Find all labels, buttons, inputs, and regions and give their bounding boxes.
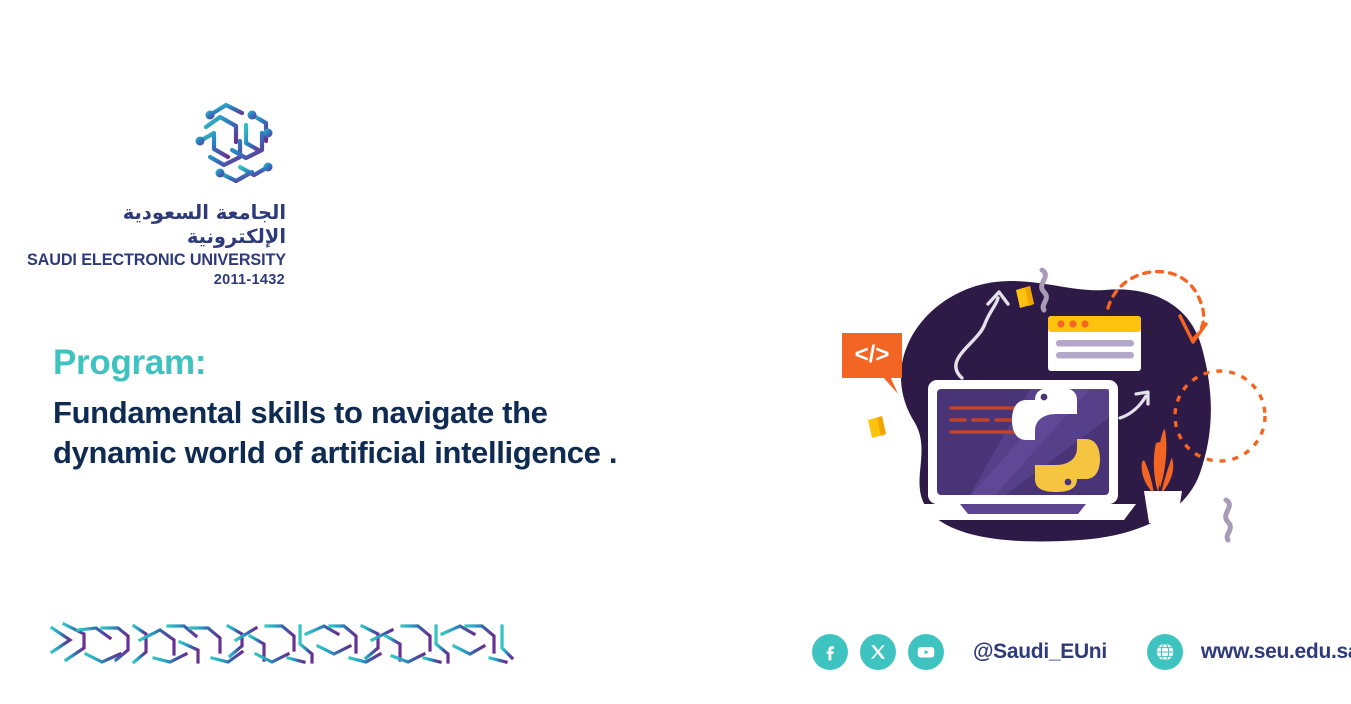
hero-illustration: </> [820, 248, 1290, 568]
logo-year: 2011-1432 [18, 272, 288, 288]
social-links-group: @Saudi_EUni [812, 634, 1107, 670]
code-bubble-label: </> [855, 341, 890, 368]
social-handle[interactable]: @Saudi_EUni [973, 640, 1107, 664]
x-twitter-icon[interactable] [860, 634, 896, 670]
logo-name-arabic: الجامعة السعودية الإلكترونية [18, 201, 288, 250]
circuit-hexagon-logo-icon [180, 95, 290, 195]
poster-canvas: الجامعة السعودية الإلكترونية SAUDI ELECT… [0, 0, 1351, 704]
squiggle-bottom-icon [1226, 500, 1231, 540]
ai-python-illustration-icon: </> [820, 248, 1290, 568]
facebook-icon[interactable] [812, 634, 848, 670]
website-group: www.seu.edu.sa [1147, 634, 1351, 670]
program-label: Program: [53, 344, 633, 383]
university-logo: الجامعة السعودية الإلكترونية SAUDI ELECT… [18, 95, 288, 288]
footer-bar: @Saudi_EUni www.seu.edu.sa [812, 628, 1351, 676]
program-description: Fundamental skills to navigate the dynam… [53, 393, 633, 475]
website-url[interactable]: www.seu.edu.sa [1201, 640, 1351, 664]
circuit-pattern-band-icon [50, 618, 530, 674]
browser-window-icon [1048, 316, 1141, 371]
laptop-icon [910, 380, 1136, 520]
code-bubble-icon: </> [842, 333, 902, 394]
globe-icon[interactable] [1147, 634, 1183, 670]
logo-name-english: SAUDI ELECTRONIC UNIVERSITY [18, 251, 288, 270]
headline-block: Program: Fundamental skills to navigate … [53, 344, 633, 474]
youtube-icon[interactable] [908, 634, 944, 670]
